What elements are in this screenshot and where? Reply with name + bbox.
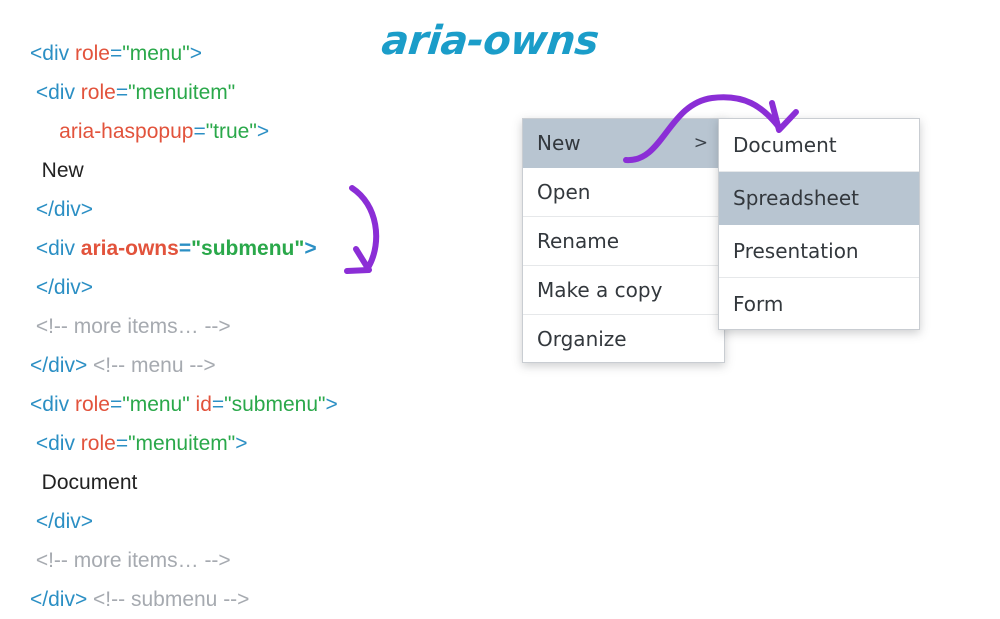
code-token-tag: <div <box>30 393 75 416</box>
code-token-punct: = <box>193 120 205 143</box>
code-token-tag: > <box>257 120 269 143</box>
code-token-tag: <div <box>30 81 81 104</box>
main-menu-item-make-a-copy[interactable]: Make a copy <box>523 266 724 315</box>
submenu-item-presentation[interactable]: Presentation <box>719 225 919 278</box>
code-token-tag: > <box>235 432 247 455</box>
submenu-item-document[interactable]: Document <box>719 119 919 172</box>
code-token-punct: = <box>116 432 128 455</box>
code-line: </div> <!-- menu --> <box>30 346 450 385</box>
code-token-punct: = <box>116 81 128 104</box>
code-token-punct: = <box>212 393 224 416</box>
code-token-text: Document <box>30 471 137 494</box>
main-menu-item-new[interactable]: New> <box>523 119 724 168</box>
code-line: <!-- more items… --> <box>30 307 450 346</box>
code-token-comment: <!-- menu --> <box>93 354 216 377</box>
code-token-tag: </div> <box>30 588 93 611</box>
code-token-punct: = <box>179 237 191 260</box>
code-token-val: "menu" <box>122 393 189 416</box>
code-token-attr: aria-owns <box>81 237 179 260</box>
code-token-val: "menuitem" <box>128 432 235 455</box>
code-token-comment: <!-- more items… --> <box>30 549 231 572</box>
code-snippet: <div role="menu"> <div role="menuitem" a… <box>30 34 450 619</box>
code-token-tag: > <box>325 393 337 416</box>
code-line: Document <box>30 463 450 502</box>
code-line: <div role="menuitem"> <box>30 424 450 463</box>
code-token-tag: <div <box>30 432 81 455</box>
code-token-comment: <!-- submenu --> <box>93 588 249 611</box>
code-token-punct: = <box>110 393 122 416</box>
code-token-val: "submenu" <box>191 237 304 260</box>
code-line: </div> <box>30 502 450 541</box>
chevron-right-icon: > <box>694 119 708 168</box>
menu-item-label: Presentation <box>733 239 859 263</box>
code-token-tag: </div> <box>30 510 93 533</box>
menu-item-label: New <box>537 131 581 155</box>
code-line: </div> <!-- submenu --> <box>30 580 450 619</box>
menu-item-label: Organize <box>537 327 627 351</box>
code-token-tag: > <box>304 237 316 260</box>
menu-item-label: Rename <box>537 229 619 253</box>
code-token-attr: role <box>75 393 110 416</box>
code-token-tag: </div> <box>30 354 93 377</box>
code-line: <div role="menuitem" <box>30 73 450 112</box>
main-menu-item-rename[interactable]: Rename <box>523 217 724 266</box>
code-token-attr: role <box>81 81 116 104</box>
submenu-item-form[interactable]: Form <box>719 278 919 331</box>
code-token-text: New <box>30 159 84 182</box>
code-token-tag: <div <box>30 237 81 260</box>
menu-item-label: Form <box>733 292 783 316</box>
code-line: aria-haspopup="true"> <box>30 112 450 151</box>
menu-item-label: Make a copy <box>537 278 662 302</box>
menu-item-label: Open <box>537 180 590 204</box>
code-line: <div role="menu" id="submenu"> <box>30 385 450 424</box>
code-token-val: "menuitem" <box>128 81 235 104</box>
code-line: </div> <box>30 268 450 307</box>
code-token-tag: </div> <box>30 276 93 299</box>
code-line: </div> <box>30 190 450 229</box>
code-token-attr: role <box>75 42 110 65</box>
code-token-attr: aria-haspopup <box>30 120 193 143</box>
main-menu-item-open[interactable]: Open <box>523 168 724 217</box>
main-menu-item-organize[interactable]: Organize <box>523 315 724 364</box>
code-token-val: "true" <box>206 120 257 143</box>
code-token-val: "submenu" <box>224 393 325 416</box>
code-token-tag: </div> <box>30 198 93 221</box>
code-token-attr: id <box>196 393 212 416</box>
main-menu-panel[interactable]: New>OpenRenameMake a copyOrganize <box>522 118 725 363</box>
code-line: <div aria-owns="submenu"> <box>30 229 450 268</box>
submenu-panel[interactable]: DocumentSpreadsheetPresentationForm <box>718 118 920 330</box>
code-token-tag: > <box>190 42 202 65</box>
code-line: <div role="menu"> <box>30 34 450 73</box>
code-token-tag: <div <box>30 42 75 65</box>
submenu-item-spreadsheet[interactable]: Spreadsheet <box>719 172 919 225</box>
code-token-val: "menu" <box>122 42 189 65</box>
code-token-attr: role <box>81 432 116 455</box>
code-line: New <box>30 151 450 190</box>
menu-item-label: Spreadsheet <box>733 186 859 210</box>
code-line: <!-- more items… --> <box>30 541 450 580</box>
menu-item-label: Document <box>733 133 837 157</box>
code-token-punct: = <box>110 42 122 65</box>
code-token-comment: <!-- more items… --> <box>30 315 231 338</box>
